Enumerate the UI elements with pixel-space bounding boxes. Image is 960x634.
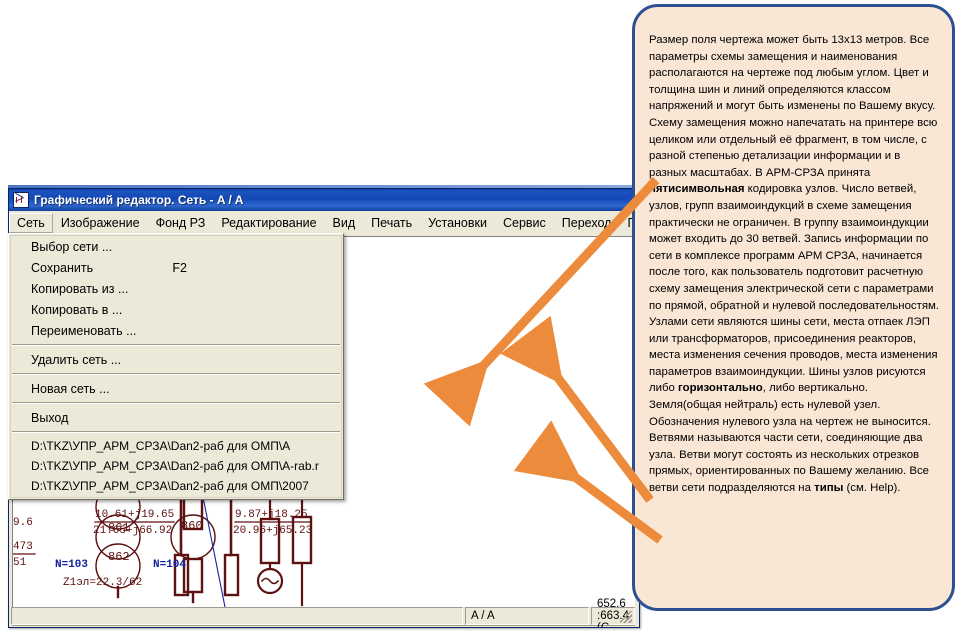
schematic-label-lbl-9b: 20.96+j65.23: [233, 525, 312, 537]
menu-option-3[interactable]: Копировать в ...: [9, 299, 343, 320]
window-title: Графический редактор. Сеть - A / A: [34, 193, 243, 207]
menu-option-shortcut: F2: [172, 261, 337, 275]
menu-option-0[interactable]: Выбор сети ...: [9, 236, 343, 257]
menu-item-2[interactable]: Фонд РЗ: [148, 213, 214, 233]
menu-option-1[interactable]: СохранитьF2: [9, 257, 343, 278]
app-network-icon: [13, 192, 29, 208]
schematic-label-lbl-860: 860: [181, 519, 203, 533]
callout-run: Размер поля чертежа может быть 13x13 мет…: [649, 34, 937, 179]
schematic-label-lbl-9a: 9.87+j18.25: [235, 509, 308, 521]
callout-emphasis: горизонтально: [678, 382, 763, 394]
menu-option-label: Выбор сети ...: [31, 240, 112, 254]
menu-separator: [12, 402, 340, 404]
menu-option-2[interactable]: Копировать из ...: [9, 278, 343, 299]
callout-run: , либо вертикально.: [763, 382, 868, 394]
menu-option-10[interactable]: Выход: [9, 407, 343, 428]
menu-option-label: D:\TKZ\УПР_АРМ_СРЗА\Dan2-раб для ОМП\A-r…: [31, 459, 319, 473]
callout-emphasis: типы: [814, 482, 843, 494]
menu-option-label: Копировать в ...: [31, 303, 122, 317]
schematic-label-lbl-862: 862: [108, 550, 130, 564]
schematic-label-lbl-10a: 10.61+j19.65: [95, 509, 174, 521]
menu-option-6[interactable]: Удалить сеть ...: [9, 349, 343, 370]
menu-option-label: Сохранить: [31, 261, 93, 275]
menu-item-3[interactable]: Редактирование: [213, 213, 324, 233]
menu-option-12[interactable]: D:\TKZ\УПР_АРМ_СРЗА\Dan2-раб для ОМП\A: [9, 436, 343, 456]
menu-separator: [12, 344, 340, 346]
callout-run: кодировка узлов. Число ветвей, узлов, гр…: [649, 183, 939, 394]
callout-run: (см. Help).: [843, 482, 900, 494]
annotation-callout: Размер поля чертежа может быть 13x13 мет…: [632, 4, 955, 611]
menu-separator: [12, 431, 340, 433]
menu-separator: [12, 373, 340, 375]
schematic-label-lbl-96: 9.6: [13, 517, 33, 529]
schematic-label-lbl-51: 51: [13, 557, 27, 569]
menu-option-label: Удалить сеть ...: [31, 353, 121, 367]
menu-option-label: Копировать из ...: [31, 282, 128, 296]
window-titlebar[interactable]: Графический редактор. Сеть - A / A: [9, 189, 639, 211]
menu-item-5[interactable]: Печать: [363, 213, 420, 233]
menu-item-8[interactable]: Переход: [554, 213, 620, 233]
menu-option-13[interactable]: D:\TKZ\УПР_АРМ_СРЗА\Dan2-раб для ОМП\A-r…: [9, 456, 343, 476]
status-coordinates: 652.6 :663.4 (С: [591, 607, 635, 625]
menu-option-14[interactable]: D:\TKZ\УПР_АРМ_СРЗА\Dan2-раб для ОМП\200…: [9, 476, 343, 496]
menu-item-4[interactable]: Вид: [325, 213, 364, 233]
menu-item-7[interactable]: Сервис: [495, 213, 554, 233]
schematic-label-lbl-z1el: Z1эл=22.3/62: [63, 577, 142, 589]
schematic-label-lbl-n104: N=104: [153, 559, 186, 571]
menu-item-6[interactable]: Установки: [420, 213, 495, 233]
menu-option-label: Выход: [31, 411, 68, 425]
menu-option-label: Новая сеть ...: [31, 382, 110, 396]
status-network-name: A / A: [465, 607, 589, 625]
menu-item-1[interactable]: Изображение: [53, 213, 148, 233]
menu-option-4[interactable]: Переименовать ...: [9, 320, 343, 341]
schematic-label-lbl-10b: 21.65+j66.92: [93, 525, 172, 537]
callout-text: Размер поля чертежа может быть 13x13 мет…: [649, 32, 940, 497]
menu-option-label: D:\TKZ\УПР_АРМ_СРЗА\Dan2-раб для ОМП\200…: [31, 479, 309, 493]
status-message: [11, 607, 463, 625]
callout-emphasis: пятисимвольная: [649, 183, 745, 195]
menu-item-0[interactable]: Сеть: [9, 213, 53, 233]
menu-bar[interactable]: СетьИзображениеФонд РЗРедактированиеВидП…: [9, 211, 639, 235]
menu-option-label: Переименовать ...: [31, 324, 137, 338]
status-bar: A / A 652.6 :663.4 (С: [11, 607, 635, 625]
network-menu-dropdown[interactable]: Выбор сети ...СохранитьF2Копировать из .…: [8, 233, 344, 500]
schematic-label-lbl-n103: N=103: [55, 559, 88, 571]
resize-grip-icon[interactable]: [620, 611, 632, 623]
schematic-label-lbl-473: 473: [13, 541, 33, 553]
callout-run: Земля(общая нейтраль) есть нулевой узел.…: [649, 399, 931, 428]
menu-option-label: D:\TKZ\УПР_АРМ_СРЗА\Dan2-раб для ОМП\A: [31, 439, 290, 453]
menu-option-8[interactable]: Новая сеть ...: [9, 378, 343, 399]
